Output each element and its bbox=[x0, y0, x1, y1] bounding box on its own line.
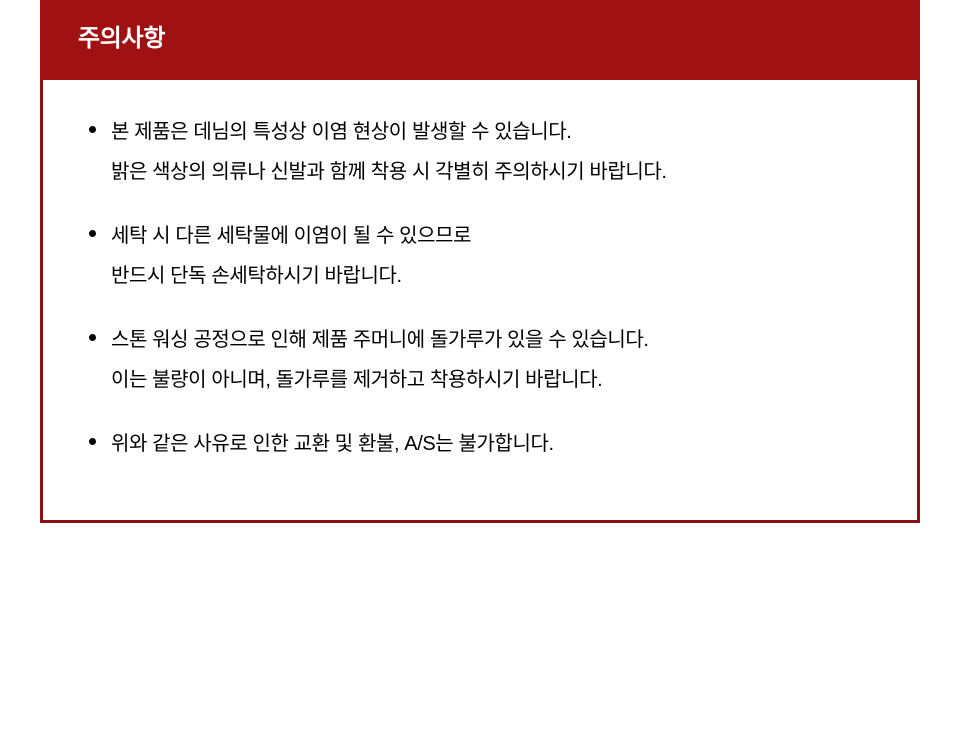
bullet-dot-icon bbox=[89, 334, 96, 341]
bullet-line: 스톤 워싱 공정으로 인해 제품 주머니에 돌가루가 있을 수 있습니다. bbox=[111, 320, 891, 360]
list-item: 본 제품은 데님의 특성상 이염 현상이 발생할 수 있습니다. 밝은 색상의 … bbox=[85, 112, 891, 192]
bullet-dot-icon bbox=[89, 126, 96, 133]
list-item: 위와 같은 사유로 인한 교환 및 환불, A/S는 불가합니다. bbox=[85, 424, 891, 464]
bullet-line: 본 제품은 데님의 특성상 이염 현상이 발생할 수 있습니다. bbox=[111, 112, 891, 152]
bullet-line: 이는 불량이 아니며, 돌가루를 제거하고 착용하시기 바랍니다. bbox=[111, 360, 891, 400]
notice-title: 주의사항 bbox=[78, 27, 165, 51]
bullet-line: 반드시 단독 손세탁하시기 바랍니다. bbox=[111, 256, 891, 296]
notice-bullet-list: 본 제품은 데님의 특성상 이염 현상이 발생할 수 있습니다. 밝은 색상의 … bbox=[85, 112, 891, 464]
notice-header: 주의사항 bbox=[40, 0, 920, 80]
notice-body: 본 제품은 데님의 특성상 이염 현상이 발생할 수 있습니다. 밝은 색상의 … bbox=[40, 80, 920, 523]
notice-panel: 주의사항 본 제품은 데님의 특성상 이염 현상이 발생할 수 있습니다. 밝은… bbox=[40, 0, 920, 523]
bullet-line: 밝은 색상의 의류나 신발과 함께 착용 시 각별히 주의하시기 바랍니다. bbox=[111, 152, 891, 192]
list-item: 세탁 시 다른 세탁물에 이염이 될 수 있으므로 반드시 단독 손세탁하시기 … bbox=[85, 216, 891, 296]
bullet-line: 위와 같은 사유로 인한 교환 및 환불, A/S는 불가합니다. bbox=[111, 424, 891, 464]
bullet-dot-icon bbox=[89, 230, 96, 237]
bullet-line: 세탁 시 다른 세탁물에 이염이 될 수 있으므로 bbox=[111, 216, 891, 256]
bullet-dot-icon bbox=[89, 438, 96, 445]
notice-slide: 주의사항 본 제품은 데님의 특성상 이염 현상이 발생할 수 있습니다. 밝은… bbox=[0, 0, 960, 740]
list-item: 스톤 워싱 공정으로 인해 제품 주머니에 돌가루가 있을 수 있습니다. 이는… bbox=[85, 320, 891, 400]
